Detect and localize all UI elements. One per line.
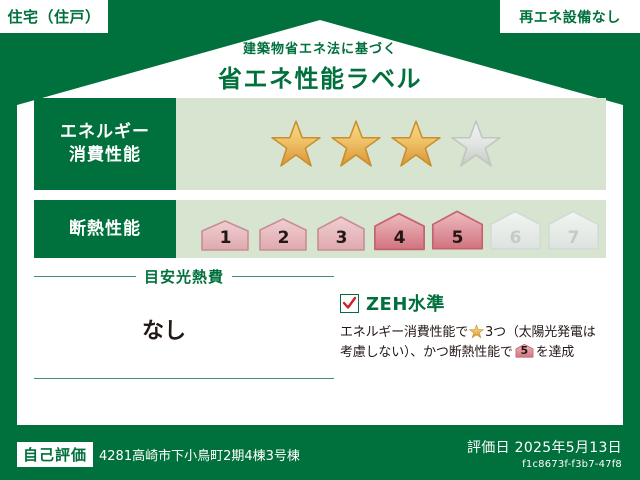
insulation-grade-7: 7 bbox=[546, 208, 601, 253]
zeh-desc-part3: を達成 bbox=[536, 345, 574, 360]
heading-rule-right bbox=[232, 276, 334, 277]
self-evaluation-badge: 自己評価 bbox=[17, 442, 93, 467]
energy-performance-label: エネルギー 消費性能 bbox=[34, 98, 176, 190]
insulation-grade-1: 1 bbox=[198, 219, 253, 253]
star-icon-inline bbox=[469, 324, 484, 339]
star-icon-empty-4 bbox=[450, 118, 502, 170]
evaluation-date: 評価日 2025年5月13日 bbox=[467, 437, 622, 457]
zeh-checkbox[interactable] bbox=[340, 294, 359, 313]
zeh-block: ZEH水準 エネルギー消費性能で3つ（太陽光発電は考慮しない）、かつ断熱性能で5… bbox=[340, 290, 608, 363]
energy-performance-value bbox=[176, 98, 606, 190]
insulation-performance-value: 1 2 3 bbox=[176, 200, 606, 258]
star-icon-filled-1 bbox=[270, 118, 322, 170]
insulation-grade-6-value: 6 bbox=[488, 228, 543, 248]
star-rating bbox=[176, 118, 502, 170]
energy-performance-label-line2: 消費性能 bbox=[69, 144, 141, 167]
insulation-grade-inline-value: 5 bbox=[515, 342, 534, 359]
renewable-status-badge: 再エネ設備なし bbox=[500, 0, 640, 33]
insulation-grade-scale: 1 2 3 bbox=[176, 200, 601, 258]
zeh-desc-part1: エネルギー消費性能で bbox=[340, 325, 468, 340]
footer-left: 自己評価 4281高崎市下小鳥町2期4棟3号棟 bbox=[17, 442, 300, 467]
utility-cost-value: なし bbox=[34, 313, 334, 345]
insulation-grade-4: 4 bbox=[372, 211, 427, 253]
insulation-grade-6: 6 bbox=[488, 208, 543, 253]
zeh-title: ZEH水準 bbox=[366, 290, 445, 316]
energy-performance-label-line1: エネルギー bbox=[60, 121, 150, 144]
energy-performance-row: エネルギー 消費性能 bbox=[34, 98, 606, 190]
utility-cost-heading-text: 目安光熱費 bbox=[144, 266, 224, 287]
insulation-performance-row: 断熱性能 bbox=[34, 200, 606, 258]
star-icon-filled-2 bbox=[330, 118, 382, 170]
zeh-title-row: ZEH水準 bbox=[340, 290, 608, 316]
utility-cost-heading: 目安光熱費 bbox=[34, 266, 334, 287]
insulation-grade-3: 3 bbox=[314, 215, 369, 253]
zeh-description: エネルギー消費性能で3つ（太陽光発電は考慮しない）、かつ断熱性能で5を達成 bbox=[340, 323, 608, 363]
utility-cost-block: 目安光熱費 なし bbox=[34, 266, 334, 345]
utility-cost-bottom-rule bbox=[34, 378, 334, 379]
insulation-grade-3-value: 3 bbox=[314, 228, 369, 248]
dwelling-type-badge: 住宅（住戸） bbox=[0, 0, 108, 33]
building-name: 4281高崎市下小鳥町2期4棟3号棟 bbox=[99, 445, 300, 464]
insulation-grade-5: 5 bbox=[430, 208, 485, 253]
insulation-grade-5-value: 5 bbox=[430, 228, 485, 248]
title-main: 省エネ性能ラベル bbox=[0, 59, 640, 94]
label-content: エネルギー 消費性能 bbox=[34, 98, 606, 408]
footer-right: 評価日 2025年5月13日 f1c8673f-f3b7-47f8 bbox=[467, 437, 622, 470]
energy-performance-label: 住宅（住戸） 再エネ設備なし 建築物省エネ法に基づく 省エネ性能ラベル エネルギ… bbox=[0, 0, 640, 480]
zeh-desc-star-count: 3つ（太陽光発電 bbox=[485, 325, 583, 340]
page-title: 建築物省エネ法に基づく 省エネ性能ラベル bbox=[0, 38, 640, 94]
evaluation-id: f1c8673f-f3b7-47f8 bbox=[467, 459, 622, 470]
insulation-grade-1-value: 1 bbox=[198, 228, 253, 248]
insulation-grade-inline-badge: 5 bbox=[515, 343, 534, 359]
insulation-performance-label: 断熱性能 bbox=[34, 200, 176, 258]
title-subtitle: 建築物省エネ法に基づく bbox=[0, 38, 640, 57]
insulation-grade-2: 2 bbox=[256, 217, 311, 253]
check-icon bbox=[342, 296, 357, 311]
insulation-grade-4-value: 4 bbox=[372, 228, 427, 248]
insulation-grade-2-value: 2 bbox=[256, 228, 311, 248]
heading-rule-left bbox=[34, 276, 136, 277]
star-icon-filled-3 bbox=[390, 118, 442, 170]
insulation-grade-7-value: 7 bbox=[546, 228, 601, 248]
